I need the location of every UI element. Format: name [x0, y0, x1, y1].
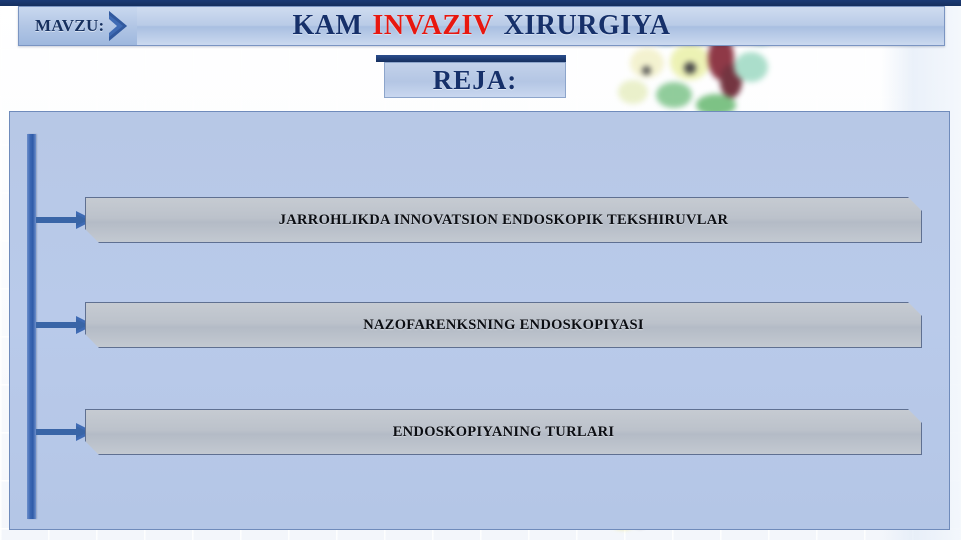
outline-row: NAZOFARENKSNING ENDOSKOPIYASI [27, 302, 922, 348]
outline-row: JARROHLIKDA INNOVATSION ENDOSKOPIK TEKSH… [27, 197, 922, 243]
outline-row: ENDOSKOPIYANING TURLARI [27, 409, 922, 455]
list-item-label: NAZOFARENKSNING ENDOSKOPIYASI [345, 317, 662, 334]
list-item[interactable]: JARROHLIKDA INNOVATSION ENDOSKOPIK TEKSH… [85, 197, 922, 243]
list-item-label: ENDOSKOPIYANING TURLARI [375, 424, 633, 441]
plan-banner-box: REJA: [384, 62, 566, 98]
title-word-2: INVAZIV [372, 10, 493, 41]
title-word-3: XIRURGIYA [504, 10, 671, 41]
title-word-1: KAM [292, 10, 362, 41]
topic-tab-label: MAVZU: [35, 16, 105, 36]
header-band: KAMINVAZIVXIRURGIYA MAVZU: [18, 6, 945, 46]
list-item[interactable]: ENDOSKOPIYANING TURLARI [85, 409, 922, 455]
plan-banner-bar [376, 55, 566, 62]
page-title: KAMINVAZIVXIRURGIYA [19, 7, 944, 45]
chevron-right-icon [107, 7, 133, 45]
slide: KAMINVAZIVXIRURGIYA MAVZU: REJA: [0, 0, 961, 540]
content-panel: JARROHLIKDA INNOVATSION ENDOSKOPIK TEKSH… [9, 111, 950, 530]
list-item[interactable]: NAZOFARENKSNING ENDOSKOPIYASI [85, 302, 922, 348]
topic-tab: MAVZU: [19, 7, 137, 45]
plan-banner-label: REJA: [433, 65, 518, 96]
list-item-label: JARROHLIKDA INNOVATSION ENDOSKOPIK TEKSH… [261, 212, 747, 229]
